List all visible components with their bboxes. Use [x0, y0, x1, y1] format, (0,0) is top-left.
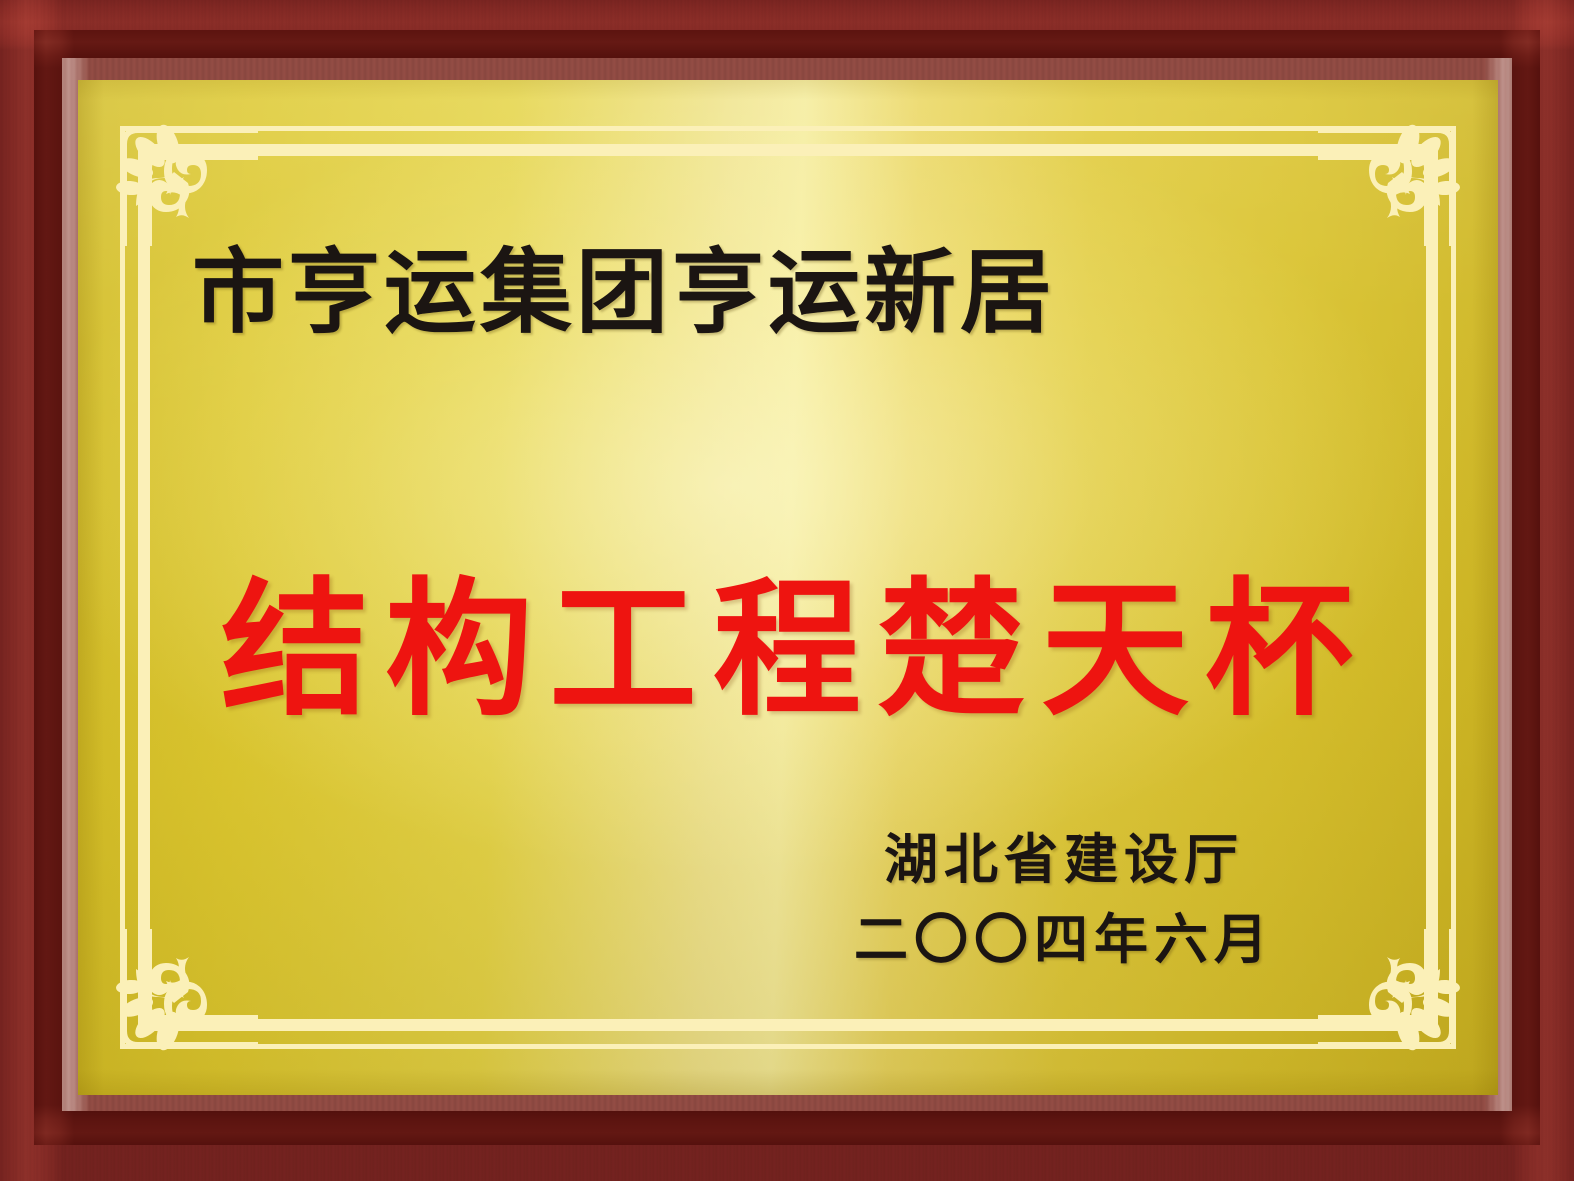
issuer-name: 湖北省建设厅 [848, 832, 1274, 886]
organization-title: 市亨运集团亨运新居 [192, 246, 1056, 338]
award-title: 结构工程楚天杯 [0, 576, 1574, 724]
issuer-date: 二〇〇四年六月 [848, 912, 1274, 966]
border-line-outer-top [120, 126, 1456, 131]
border-line-inner-top [138, 144, 1438, 156]
award-plaque: 市亨运集团亨运新居 结构工程楚天杯 湖北省建设厅 二〇〇四年六月 [0, 0, 1574, 1181]
corner-ornament-bottom-left-icon [108, 929, 258, 1061]
corner-ornament-top-left-icon [108, 114, 258, 246]
issuer-block: 湖北省建设厅 二〇〇四年六月 [848, 832, 1274, 966]
border-line-outer-bottom [120, 1044, 1456, 1049]
border-line-inner-bottom [138, 1019, 1438, 1031]
corner-ornament-bottom-right-icon [1318, 929, 1468, 1061]
corner-ornament-top-right-icon [1318, 114, 1468, 246]
